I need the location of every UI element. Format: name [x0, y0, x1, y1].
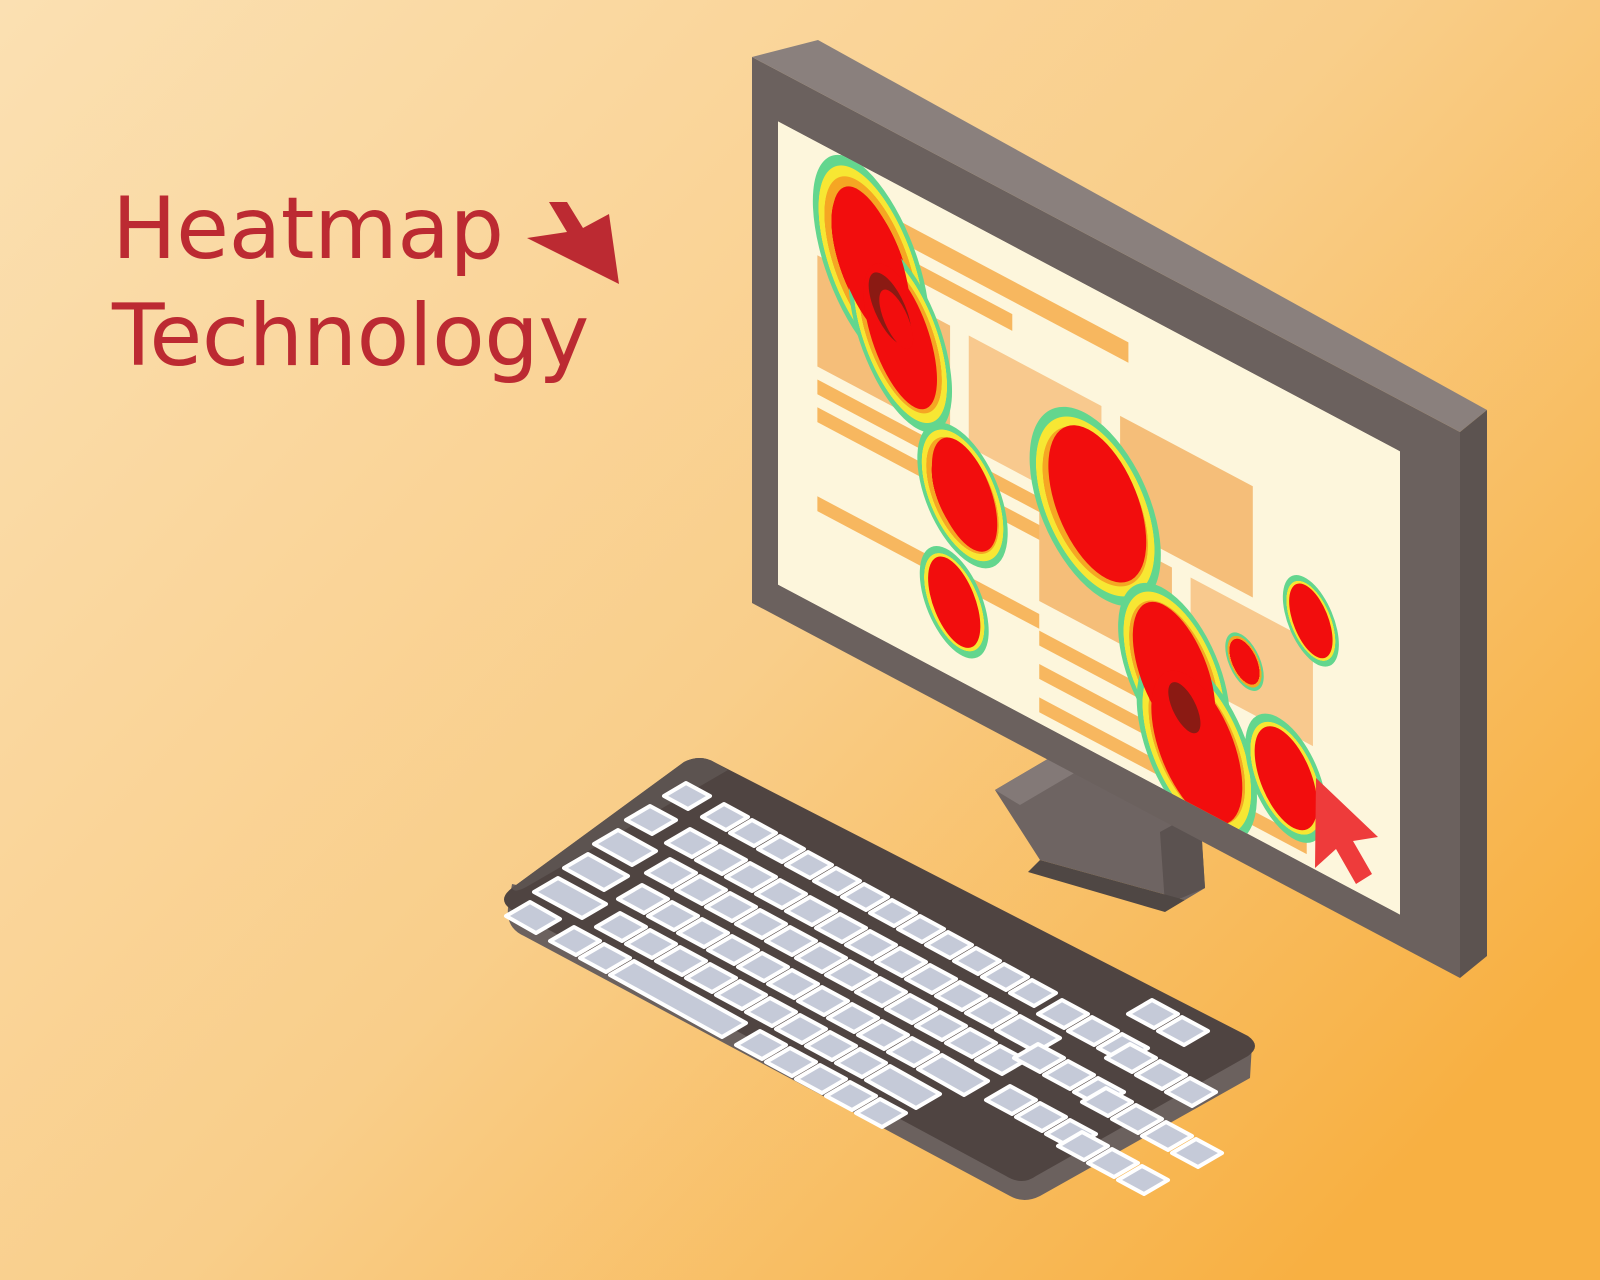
title-cursor-shape [527, 202, 619, 284]
desktop-monitor [752, 40, 1487, 978]
monitor-bezel-right-side [1460, 410, 1487, 978]
illustration-canvas: Heatmap Technology [0, 0, 1600, 1280]
title-line-1: Heatmap [112, 186, 504, 274]
page-title: Heatmap Technology [112, 186, 672, 381]
cursor-arrow-icon [519, 194, 623, 293]
title-line-2: Technology [112, 293, 672, 381]
